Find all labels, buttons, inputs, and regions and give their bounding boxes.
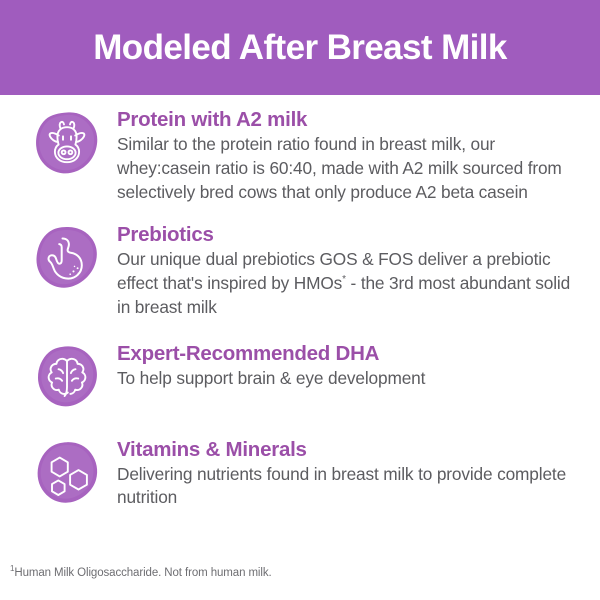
feature-title: Vitamins & Minerals — [117, 438, 582, 462]
footnote: 1Human Milk Oligosaccharide. Not from hu… — [10, 567, 272, 581]
feature-text-block: Expert-Recommended DHA To help support b… — [100, 340, 582, 391]
header-banner: Modeled After Breast Milk — [0, 0, 600, 95]
feature-title: Expert-Recommended DHA — [117, 342, 582, 366]
feature-text-block: Vitamins & Minerals Delivering nutrients… — [100, 436, 582, 511]
list-item: Prebiotics Our unique dual prebiotics GO… — [0, 221, 600, 319]
list-item: Protein with A2 milk Similar to the prot… — [0, 106, 600, 204]
hexagons-molecule-icon — [34, 440, 100, 506]
list-item: Expert-Recommended DHA To help support b… — [0, 340, 600, 410]
feature-text-block: Protein with A2 milk Similar to the prot… — [100, 106, 582, 204]
stomach-icon — [34, 225, 100, 291]
feature-description: To help support brain & eye development — [117, 367, 582, 391]
feature-list: Protein with A2 milk Similar to the prot… — [0, 106, 600, 510]
cow-face-icon — [34, 110, 100, 176]
feature-text-block: Prebiotics Our unique dual prebiotics GO… — [100, 221, 582, 319]
feature-title: Prebiotics — [117, 223, 582, 247]
footnote-text: Human Milk Oligosaccharide. Not from hum… — [14, 567, 271, 579]
feature-description: Similar to the protein ratio found in br… — [117, 133, 582, 204]
feature-title: Protein with A2 milk — [117, 108, 582, 132]
list-item: Vitamins & Minerals Delivering nutrients… — [0, 436, 600, 511]
brain-icon — [34, 344, 100, 410]
page-title: Modeled After Breast Milk — [93, 30, 507, 65]
feature-description: Delivering nutrients found in breast mil… — [117, 463, 582, 510]
feature-description: Our unique dual prebiotics GOS & FOS del… — [117, 248, 582, 319]
